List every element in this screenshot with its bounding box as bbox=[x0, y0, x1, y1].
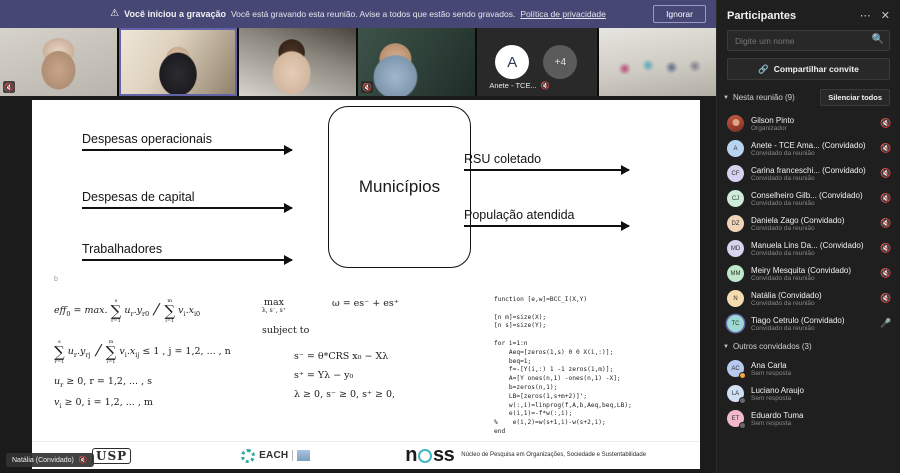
noss-n: n bbox=[405, 444, 417, 466]
search-input[interactable] bbox=[727, 30, 890, 51]
arrow-line bbox=[82, 259, 292, 261]
each-label: EACH bbox=[259, 450, 288, 461]
tile-name-text: Anete - TCE... bbox=[489, 81, 536, 90]
in-meeting-section-header[interactable]: ▼ Nesta reunião (9) Silenciar todos bbox=[723, 89, 890, 106]
noss-logo: nss Núcleo de Pesquisa em Organizações, … bbox=[405, 444, 646, 467]
participant-role: Sem resposta bbox=[751, 395, 892, 402]
formula-efficiency: eff0 = max. s∑r=1 ur.yr0 / m∑i=1 vi.xi0 bbox=[54, 298, 231, 323]
participant-info: Ana CarlaSem resposta bbox=[751, 361, 892, 377]
noss-o-icon bbox=[418, 449, 432, 463]
participant-name: Ana Carla bbox=[751, 361, 892, 370]
participant-role: Convidado da reunião bbox=[751, 275, 880, 282]
participant-tile-5[interactable]: A +4 Anete - TCE... 🔇 bbox=[477, 28, 596, 96]
participant-role: Organizador bbox=[751, 125, 880, 132]
mic-muted-icon[interactable]: 🔇 bbox=[880, 143, 892, 154]
dea-ratio-formula: eff0 = max. s∑r=1 ur.yr0 / m∑i=1 vi.xi0 … bbox=[54, 298, 231, 410]
presenter-name: Natália (Convidado) bbox=[12, 457, 74, 464]
participant-info: Carina franceschi... (Convidado)Convidad… bbox=[751, 166, 880, 182]
mic-muted-icon[interactable]: 🔇 bbox=[880, 118, 892, 129]
more-options-icon[interactable]: ⋯ bbox=[860, 11, 871, 22]
mic-muted-icon[interactable]: 🔇 bbox=[880, 218, 892, 229]
privacy-policy-link[interactable]: Política de privacidade bbox=[520, 9, 606, 19]
slide-artifact-mark: b bbox=[54, 276, 58, 283]
objective-row: max λ, s⁻, s⁺ ω = es⁻ + es⁺ bbox=[262, 298, 399, 314]
participant-row[interactable]: LALuciano AraujoSem resposta bbox=[717, 381, 900, 406]
in-meeting-participant-list: Gilson PintoOrganizador🔇AAnete - TCE Ama… bbox=[717, 109, 900, 336]
participant-row[interactable]: AAnete - TCE Ama... (Convidado)Convidado… bbox=[717, 136, 900, 161]
participant-role: Sem resposta bbox=[751, 370, 892, 377]
share-invite-button[interactable]: 🔗 Compartilhar convite bbox=[727, 58, 890, 80]
avatar: MM bbox=[727, 265, 744, 282]
avatar: AC bbox=[727, 360, 744, 377]
participant-info: Meiry Mesquita (Convidado)Convidado da r… bbox=[751, 266, 880, 282]
participant-name: Eduardo Tuma bbox=[751, 411, 892, 420]
mic-muted-icon: 🔇 bbox=[541, 81, 550, 90]
input-arrow-3: Trabalhadores bbox=[82, 242, 292, 261]
participant-info: Conselheiro Gilb... (Convidado)Convidado… bbox=[751, 191, 880, 207]
ignore-button[interactable]: Ignorar bbox=[653, 5, 706, 23]
panel-title: Participantes bbox=[727, 10, 850, 22]
participant-row[interactable]: MMMeiry Mesquita (Convidado)Convidado da… bbox=[717, 261, 900, 286]
arrow-line bbox=[82, 149, 292, 151]
other-invited-list: ACAna CarlaSem respostaLALuciano AraujoS… bbox=[717, 354, 900, 431]
teams-meeting-window: ⚠ Você iniciou a gravação Você está grav… bbox=[0, 0, 900, 473]
mic-muted-icon[interactable]: 🔇 bbox=[880, 293, 892, 304]
participant-name: Carina franceschi... (Convidado) bbox=[751, 166, 880, 175]
divider bbox=[292, 450, 293, 461]
participant-info: Anete - TCE Ama... (Convidado)Convidado … bbox=[751, 141, 880, 157]
banner-headline: Você iniciou a gravação bbox=[124, 9, 226, 19]
participant-info: Manuela Lins Da... (Convidado)Convidado … bbox=[751, 241, 880, 257]
noss-tagline: Núcleo de Pesquisa em Organizações, Soci… bbox=[461, 452, 646, 459]
close-icon[interactable]: ✕ bbox=[881, 11, 890, 22]
participant-name: Daniela Zago (Convidado) bbox=[751, 216, 880, 225]
arrow-line bbox=[464, 225, 629, 227]
recording-banner: ⚠ Você iniciou a gravação Você está grav… bbox=[0, 0, 716, 28]
input-arrow-1: Despesas operacionais bbox=[82, 132, 292, 151]
constraint-3: λ ≥ 0, s⁻ ≥ 0, s⁺ ≥ 0, bbox=[294, 389, 399, 402]
participant-row[interactable]: CFCarina franceschi... (Convidado)Convid… bbox=[717, 161, 900, 186]
input-label-3: Trabalhadores bbox=[82, 242, 292, 256]
mic-muted-icon: 🔇 bbox=[79, 456, 88, 464]
video-tile-strip: 🔇 🔇 A +4 Anete - TCE... 🔇 bbox=[0, 28, 716, 96]
mic-on-icon[interactable]: 🎤 bbox=[880, 318, 892, 329]
mic-muted-icon[interactable]: 🔇 bbox=[880, 168, 892, 179]
panel-header: Participantes ⋯ ✕ bbox=[717, 0, 900, 30]
avatar: CF bbox=[727, 165, 744, 182]
share-invite-label: Compartilhar convite bbox=[774, 64, 859, 74]
dea-slack-model: max λ, s⁻, s⁺ ω = es⁻ + es⁺ subject to s… bbox=[262, 298, 399, 402]
constraint-tail: ≤ 1 , j = 1,2, ... , n bbox=[142, 346, 230, 357]
output-arrow-1: RSU coletado bbox=[464, 152, 629, 171]
participants-panel: Participantes ⋯ ✕ 🔍 🔗 Compartilhar convi… bbox=[716, 0, 900, 473]
participant-info: Gilson PintoOrganizador bbox=[751, 116, 880, 132]
participant-info: Luciano AraujoSem resposta bbox=[751, 386, 892, 402]
participant-row[interactable]: Gilson PintoOrganizador🔇 bbox=[717, 111, 900, 136]
presenter-name-chip: Natália (Convidado) 🔇 bbox=[6, 453, 94, 467]
output-arrow-2: População atendida bbox=[464, 208, 629, 227]
participant-search: 🔍 bbox=[727, 30, 890, 51]
slide-footer-logos: USP EACH nss Núcleo de Pesquisa em Organ… bbox=[32, 441, 700, 469]
participant-name: Meiry Mesquita (Convidado) bbox=[751, 266, 880, 275]
participant-name: Manuela Lins Da... (Convidado) bbox=[751, 241, 880, 250]
avatar: LA bbox=[727, 385, 744, 402]
avatar: MD bbox=[727, 240, 744, 257]
overflow-participants-badge[interactable]: +4 bbox=[543, 45, 577, 79]
formulas-area: eff0 = max. s∑r=1 ur.yr0 / m∑i=1 vi.xi0 … bbox=[32, 292, 700, 447]
avatar bbox=[727, 115, 744, 132]
participant-row[interactable]: DZDaniela Zago (Convidado)Convidado da r… bbox=[717, 211, 900, 236]
avatar-tile-group: A +4 Anete - TCE... 🔇 bbox=[477, 28, 595, 96]
participant-name: Anete - TCE Ama... (Convidado) bbox=[751, 141, 880, 150]
participant-name: Tiago Cetrulo (Convidado) bbox=[751, 316, 880, 325]
video-feed bbox=[239, 28, 356, 96]
others-section-header[interactable]: ▼ Outros convidados (3) bbox=[723, 342, 890, 351]
formula-v-nonneg: vi ≥ 0, i = 1,2, ... , m bbox=[54, 397, 231, 411]
mic-muted-icon: 🔇 bbox=[361, 81, 373, 93]
video-feed bbox=[0, 28, 117, 96]
input-arrow-2: Despesas de capital bbox=[82, 190, 292, 209]
u-nonneg-text: ≥ 0, r = 1,2, ... , s bbox=[63, 376, 152, 387]
input-label-1: Despesas operacionais bbox=[82, 132, 292, 146]
mic-muted-icon: 🔇 bbox=[3, 81, 15, 93]
video-feed bbox=[119, 28, 236, 96]
chevron-down-icon: ▼ bbox=[723, 344, 729, 350]
participant-tile-1[interactable]: 🔇 bbox=[0, 28, 117, 96]
each-logo: EACH bbox=[241, 449, 310, 463]
participant-role: Convidado da reunião bbox=[751, 325, 880, 332]
matlab-code-block: function [e,w]=BCC_I(X,Y) [n m]=size(X);… bbox=[494, 296, 632, 437]
participant-role: Convidado da reunião bbox=[751, 175, 880, 182]
noss-ss: ss bbox=[433, 444, 454, 466]
participant-row[interactable]: ACAna CarlaSem resposta bbox=[717, 356, 900, 381]
chevron-down-icon: ▼ bbox=[723, 95, 729, 101]
tile-name-label: Anete - TCE... 🔇 bbox=[489, 81, 550, 90]
pending-response-badge bbox=[739, 422, 746, 429]
avatar: N bbox=[727, 290, 744, 307]
input-label-2: Despesas de capital bbox=[82, 190, 292, 204]
mic-muted-icon[interactable]: 🔇 bbox=[880, 268, 892, 279]
participant-tile-2[interactable] bbox=[119, 28, 236, 96]
each-ring-icon bbox=[241, 449, 255, 463]
share-invite-icon: 🔗 bbox=[758, 64, 769, 75]
participant-name: Natália (Convidado) bbox=[751, 291, 880, 300]
code-text: function [e,w]=BCC_I(X,Y) [n m]=size(X);… bbox=[494, 296, 632, 437]
each-secondary-mark bbox=[297, 450, 310, 461]
objective-function: ω = es⁻ + es⁺ bbox=[332, 298, 399, 311]
participant-tile-4[interactable]: 🔇 bbox=[358, 28, 475, 96]
avatar: DZ bbox=[727, 215, 744, 232]
pending-response-badge bbox=[739, 397, 746, 404]
shared-content-stage: Natália (Convidado) 🔇 Despesas operacion… bbox=[0, 96, 716, 473]
video-feed bbox=[358, 28, 475, 96]
participant-row[interactable]: NNatália (Convidado)Convidado da reunião… bbox=[717, 286, 900, 311]
formula-constraint: s∑r=1 ur.yrj / m∑i=1 vi.xij ≤ 1 , j = 1,… bbox=[54, 339, 231, 364]
usp-logo: USP bbox=[92, 448, 131, 464]
avatar: A bbox=[495, 45, 529, 79]
formula-u-nonneg: ur ≥ 0, r = 1,2, ... , s bbox=[54, 376, 231, 390]
others-label: Outros convidados (3) bbox=[733, 342, 890, 351]
output-label-2: População atendida bbox=[464, 208, 629, 222]
search-icon[interactable]: 🔍 bbox=[872, 34, 884, 45]
participant-role: Sem resposta bbox=[751, 420, 892, 427]
participant-info: Natália (Convidado)Convidado da reunião bbox=[751, 291, 880, 307]
participant-role: Convidado da reunião bbox=[751, 225, 880, 232]
constraint-1: s⁻ = θ*CRS x₀ − Xλ bbox=[294, 351, 399, 364]
shared-slide[interactable]: Despesas operacionais Despesas de capita… bbox=[32, 100, 700, 469]
participant-row[interactable]: TCTiago Cetrulo (Convidado)Convidado da … bbox=[717, 311, 900, 336]
max-subscript: λ, s⁻, s⁺ bbox=[262, 308, 286, 314]
dea-io-diagram: Despesas operacionais Despesas de capita… bbox=[32, 100, 700, 290]
participant-info: Daniela Zago (Convidado)Convidado da reu… bbox=[751, 216, 880, 232]
participant-row[interactable]: MDManuela Lins Da... (Convidado)Convidad… bbox=[717, 236, 900, 261]
participant-name: Luciano Araujo bbox=[751, 386, 892, 395]
warning-icon: ⚠ bbox=[110, 9, 119, 19]
noss-wordmark: nss bbox=[405, 444, 454, 467]
participant-name: Gilson Pinto bbox=[751, 116, 880, 125]
constraint-2: s⁺ = Yλ − y₀ bbox=[294, 370, 399, 383]
video-feed bbox=[599, 28, 716, 96]
in-meeting-label: Nesta reunião (9) bbox=[733, 93, 820, 102]
participant-row[interactable]: ETEduardo TumaSem resposta bbox=[717, 406, 900, 431]
avatar: ET bbox=[727, 410, 744, 427]
avatar: CJ bbox=[727, 190, 744, 207]
mute-all-button[interactable]: Silenciar todos bbox=[820, 89, 890, 106]
banner-text: Você está gravando esta reunião. Avise a… bbox=[231, 9, 515, 19]
participant-role: Convidado da reunião bbox=[751, 150, 880, 157]
participant-info: Eduardo TumaSem resposta bbox=[751, 411, 892, 427]
mic-muted-icon[interactable]: 🔇 bbox=[880, 243, 892, 254]
participant-tile-3[interactable] bbox=[239, 28, 356, 96]
arrow-line bbox=[82, 207, 292, 209]
avatar: A bbox=[727, 140, 744, 157]
participant-role: Convidado da reunião bbox=[751, 300, 880, 307]
participant-info: Tiago Cetrulo (Convidado)Convidado da re… bbox=[751, 316, 880, 332]
participant-role: Convidado da reunião bbox=[751, 250, 880, 257]
participant-row[interactable]: CJConselheiro Gilb... (Convidado)Convida… bbox=[717, 186, 900, 211]
municipios-box: Municípios bbox=[328, 106, 471, 268]
v-nonneg-text: ≥ 0, i = 1,2, ... , m bbox=[61, 397, 152, 408]
subject-to-label: subject to bbox=[262, 325, 399, 338]
participant-name: Conselheiro Gilb... (Convidado) bbox=[751, 191, 880, 200]
pending-response-badge bbox=[739, 372, 746, 379]
arrow-line bbox=[464, 169, 629, 171]
output-label-1: RSU coletado bbox=[464, 152, 629, 166]
participant-tile-6[interactable] bbox=[599, 28, 716, 96]
mic-muted-icon[interactable]: 🔇 bbox=[880, 193, 892, 204]
avatar: TC bbox=[727, 315, 744, 332]
participant-role: Convidado da reunião bbox=[751, 200, 880, 207]
